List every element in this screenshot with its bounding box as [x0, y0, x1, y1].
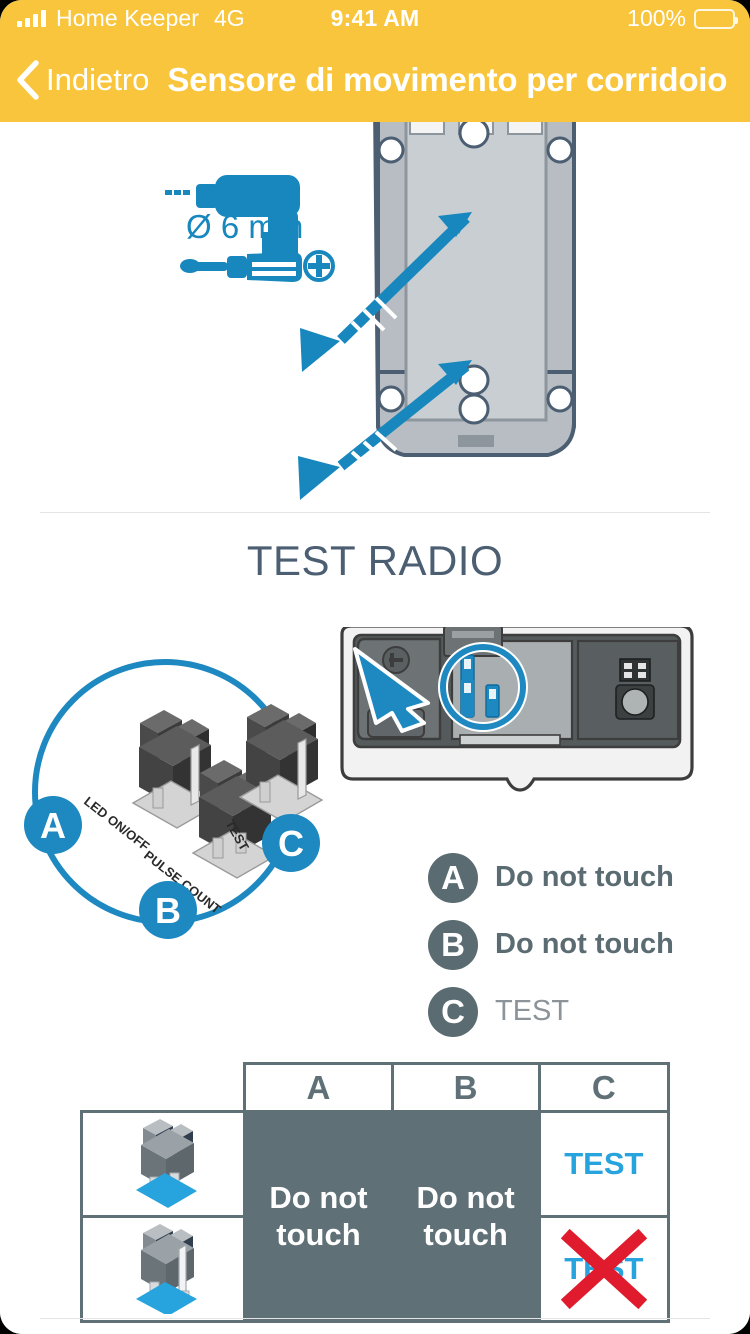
jumper-a-illustration: LED ON/OFF [81, 710, 215, 854]
svg-text:C: C [278, 823, 304, 864]
list-item: C TEST [428, 978, 674, 1045]
table-cell-b-merged: Do not touch [392, 1112, 539, 1322]
section-divider [40, 512, 710, 513]
status-bar: Home Keeper 4G 9:41 AM 100% [0, 0, 750, 37]
screwdriver-icon [180, 252, 302, 282]
table-cell-a-merged: Do not touch [245, 1112, 392, 1322]
badge-c: C [262, 814, 320, 872]
battery-full-icon [694, 9, 735, 29]
legend-label-b: Do not touch [495, 928, 674, 961]
table-header-row: A B C [82, 1064, 669, 1112]
legend-label-c: TEST [495, 995, 569, 1028]
navigation-bar: Indietro Sensore di movimento per corrid… [0, 37, 750, 122]
back-button[interactable]: Indietro [14, 59, 149, 101]
legend-label-a: Do not touch [495, 861, 674, 894]
battery-percent-label: 100% [627, 5, 686, 32]
table-header-a: A [245, 1064, 392, 1112]
jumper-closed-icon [82, 1112, 245, 1217]
list-item: B Do not touch [428, 911, 674, 978]
legend-badge-b: B [428, 920, 478, 970]
legend-badge-a: A [428, 853, 478, 903]
bottom-divider [40, 1318, 710, 1319]
legend-list: A Do not touch B Do not touch C TEST [428, 844, 674, 1045]
page-title: Sensore di movimento per corridoio [167, 61, 727, 99]
jumper-open-icon [82, 1217, 245, 1322]
jumper-setting-table: A B C [80, 1062, 670, 1320]
phillips-screw-icon [305, 252, 333, 280]
table-cell-c-row2: TEST [539, 1217, 668, 1322]
phone-screen: Home Keeper 4G 9:41 AM 100% Indietro Sen… [0, 0, 750, 1334]
back-button-label: Indietro [46, 62, 149, 98]
mounting-plate-illustration [375, 122, 574, 455]
svg-text:B: B [155, 890, 181, 931]
content-scroll-area[interactable]: Ø 6 mm TEST RADIO [0, 122, 750, 1334]
table-header-b: B [392, 1064, 539, 1112]
mounting-plate-drilling-figure: Ø 6 mm [0, 122, 750, 512]
sensor-open-housing-photo [342, 627, 692, 790]
svg-text:A: A [40, 805, 66, 846]
table-cell-c-row1: TEST [539, 1112, 668, 1217]
legend-badge-c: C [428, 987, 478, 1037]
table-header-c: C [539, 1064, 668, 1112]
red-cross-icon [556, 1228, 652, 1310]
section-title: TEST RADIO [0, 537, 750, 585]
drill-bit-size-label: Ø 6 mm [186, 208, 303, 245]
badge-a: A [24, 796, 82, 854]
table-row: Do not touch Do not touch TEST [82, 1112, 669, 1217]
battery-status: 100% [627, 5, 735, 32]
table-corner-cell [82, 1064, 245, 1112]
chevron-left-icon [14, 59, 40, 101]
badge-b: B [139, 881, 197, 939]
list-item: A Do not touch [428, 844, 674, 911]
test-label-row1: TEST [564, 1146, 643, 1181]
